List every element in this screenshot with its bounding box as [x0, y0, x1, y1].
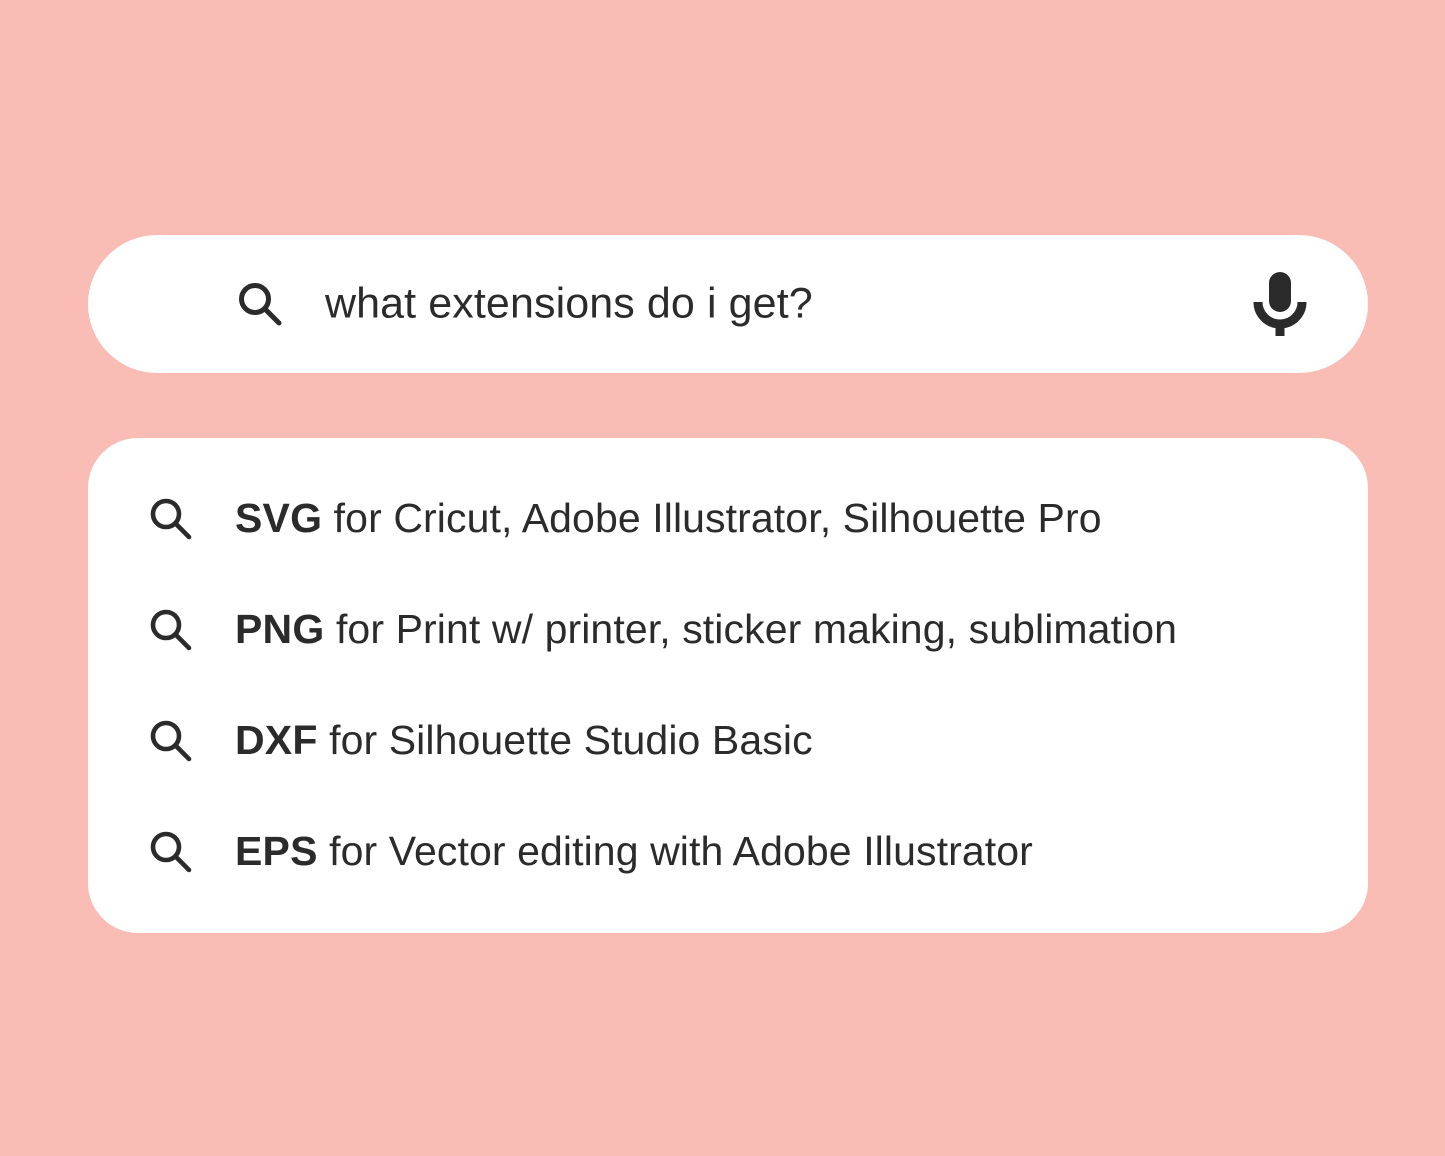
suggestion-label: EPS for Vector editing with Adobe Illust…	[235, 828, 1033, 875]
search-icon	[148, 718, 194, 764]
suggestion-rest: for Cricut, Adobe Illustrator, Silhouett…	[322, 495, 1101, 541]
search-icon	[148, 829, 194, 875]
search-icon	[236, 280, 284, 328]
microphone-icon[interactable]	[1250, 268, 1310, 340]
suggestion-row-dxf[interactable]: DXF for Silhouette Studio Basic	[88, 703, 1368, 779]
suggestion-row-eps[interactable]: EPS for Vector editing with Adobe Illust…	[88, 814, 1368, 890]
suggestion-rest: for Vector editing with Adobe Illustrato…	[318, 828, 1033, 874]
suggestion-row-png[interactable]: PNG for Print w/ printer, sticker making…	[88, 592, 1368, 668]
suggestion-label: PNG for Print w/ printer, sticker making…	[235, 606, 1177, 653]
search-icon	[148, 496, 194, 542]
suggestion-prefix: DXF	[235, 717, 318, 763]
page-canvas: what extensions do i get? SVG for Cricut…	[0, 0, 1445, 1156]
search-icon	[148, 607, 194, 653]
search-bar[interactable]: what extensions do i get?	[88, 235, 1368, 373]
suggestion-rest: for Silhouette Studio Basic	[318, 717, 813, 763]
suggestion-label: DXF for Silhouette Studio Basic	[235, 717, 813, 764]
search-input[interactable]: what extensions do i get?	[325, 279, 813, 328]
suggestion-rest: for Print w/ printer, sticker making, su…	[324, 606, 1177, 652]
suggestion-prefix: PNG	[235, 606, 324, 652]
suggestion-prefix: SVG	[235, 495, 322, 541]
suggestions-card: SVG for Cricut, Adobe Illustrator, Silho…	[88, 438, 1368, 933]
suggestion-prefix: EPS	[235, 828, 318, 874]
suggestion-row-svg[interactable]: SVG for Cricut, Adobe Illustrator, Silho…	[88, 481, 1368, 557]
suggestion-label: SVG for Cricut, Adobe Illustrator, Silho…	[235, 495, 1102, 542]
